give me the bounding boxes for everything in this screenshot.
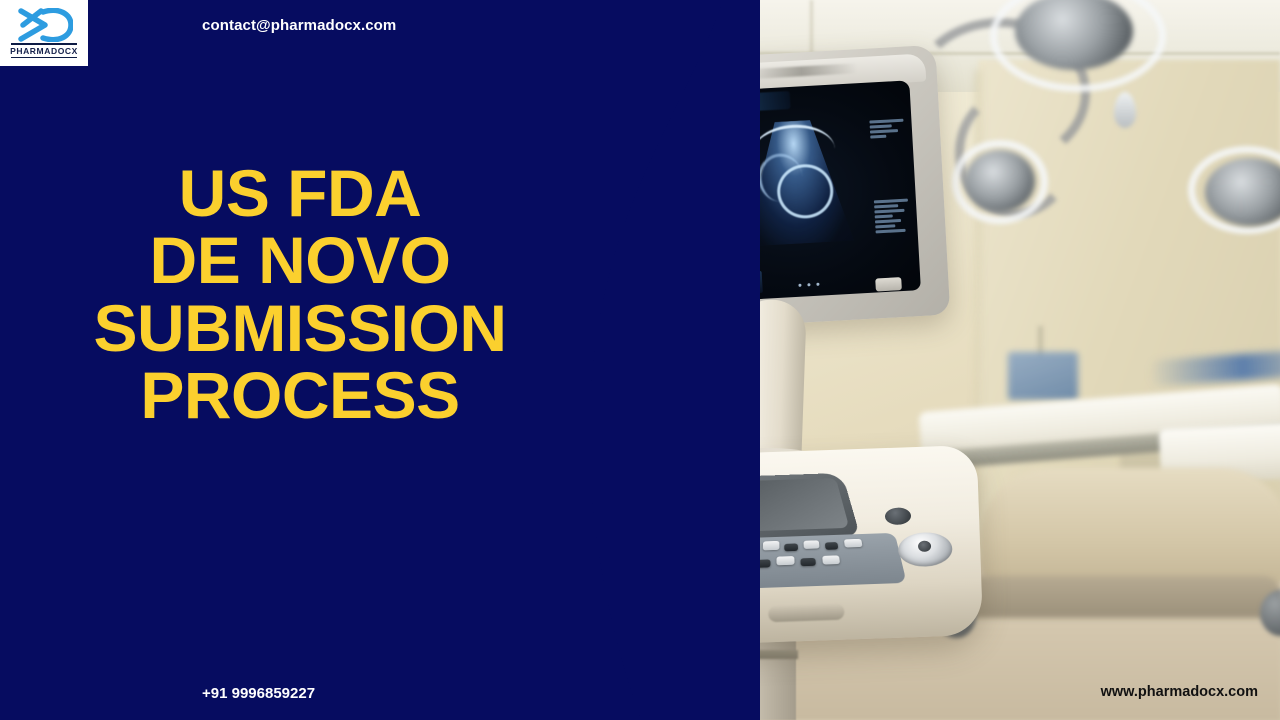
text-layer: PHARMADOCX contact@pharmadocx.com US FDA…	[0, 0, 1280, 720]
contact-email[interactable]: contact@pharmadocx.com	[202, 17, 396, 34]
poster-canvas: PHARMADOCX contact@pharmadocx.com US FDA…	[0, 0, 1280, 720]
contact-phone[interactable]: +91 9996859227	[202, 685, 315, 702]
logo-wordmark: PHARMADOCX	[10, 46, 78, 56]
brand-logo[interactable]: PHARMADOCX	[0, 0, 88, 66]
page-title: US FDA DE NOVO SUBMISSION PROCESS	[0, 160, 600, 429]
logo-rule-bottom	[11, 57, 77, 59]
headline-line-4: PROCESS	[0, 362, 600, 429]
contact-website[interactable]: www.pharmadocx.com	[1101, 684, 1258, 700]
headline-line-3: SUBMISSION	[0, 295, 600, 362]
headline-line-2: DE NOVO	[0, 227, 600, 294]
logo-rule-top	[11, 43, 77, 45]
headline-line-1: US FDA	[0, 160, 600, 227]
pharmadocx-xd-mark	[15, 8, 73, 42]
